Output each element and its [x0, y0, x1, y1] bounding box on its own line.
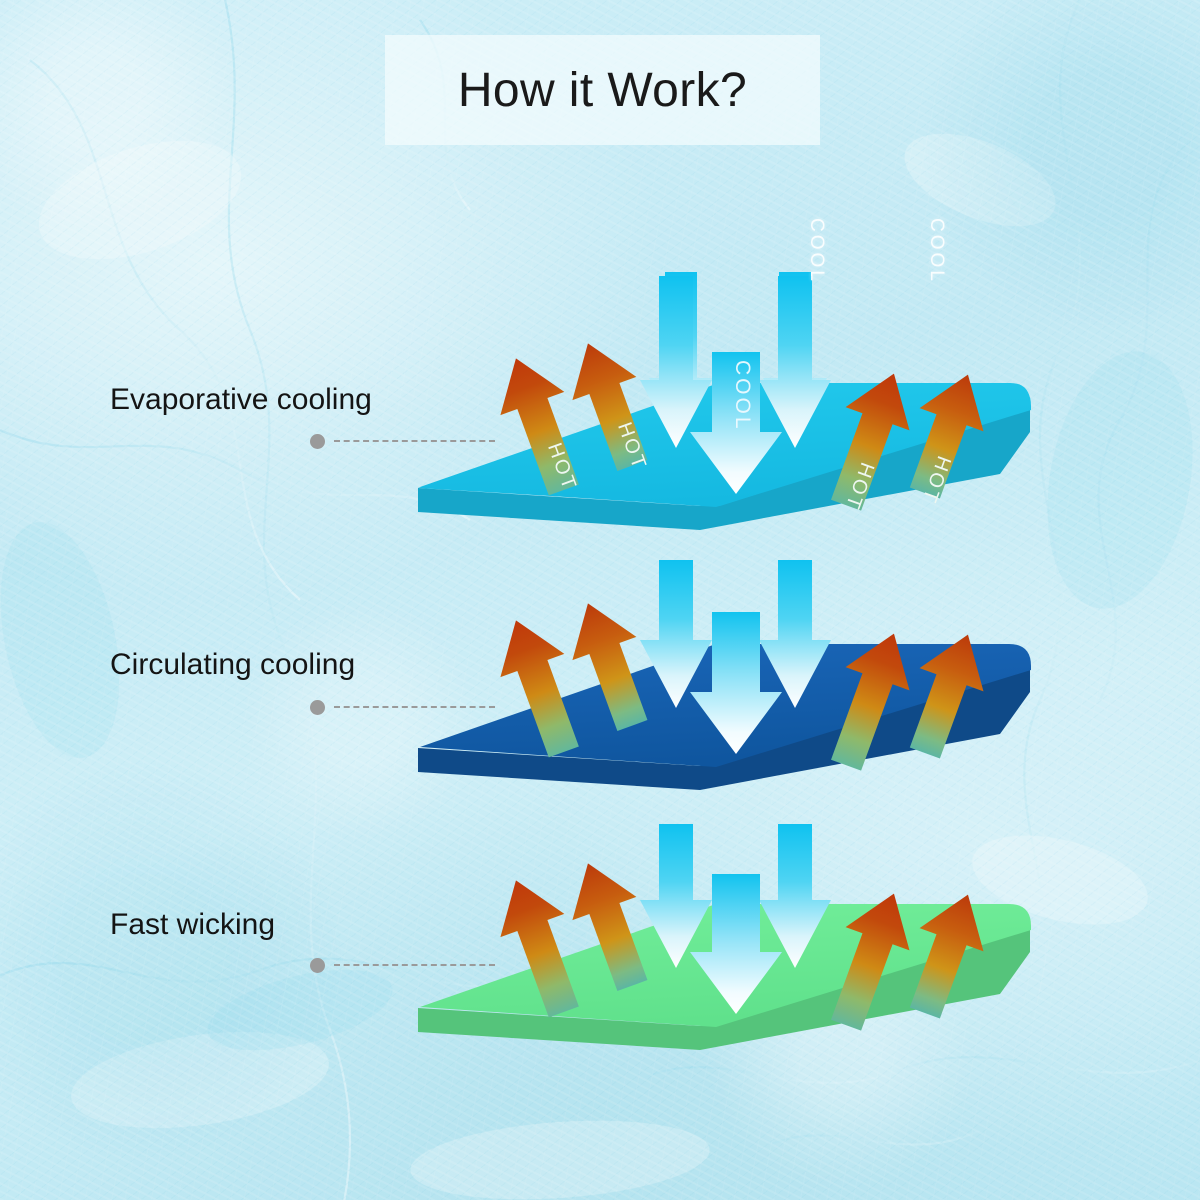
layer-circulating-cooling	[418, 560, 1031, 790]
ambient-cool-tag-1: COOL	[805, 218, 827, 284]
layer-evaporative-cooling: COOL HOT HOT HOT	[418, 276, 1031, 530]
center-cool-label: COOL	[731, 360, 754, 432]
ambient-cool-tag-2: COOL	[925, 218, 947, 284]
layer-diagram: COOL HOT HOT HOT	[0, 0, 1200, 1200]
layer-fast-wicking	[418, 824, 1031, 1050]
infographic-stage: How it Work? Evaporative cooling Circula…	[0, 0, 1200, 1200]
